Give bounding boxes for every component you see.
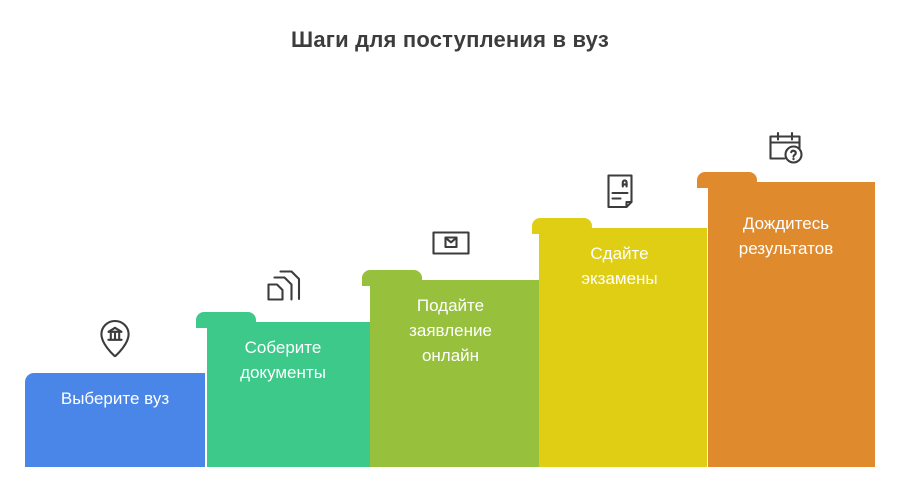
step-label-3-line3: онлайн [368, 343, 533, 368]
step-label-3-line2: заявление [368, 318, 533, 343]
step-label-1-line1: Выберите вуз [31, 386, 199, 411]
step-label-3-line1: Подайте [368, 293, 533, 318]
step-label-4-line1: Сдайте [538, 241, 701, 266]
step-label-2-line1: Соберите [202, 335, 364, 360]
step-label-4-line2: экзамены [538, 266, 701, 291]
step-label-4: Сдайте экзамены [532, 241, 707, 291]
map-pin-university-icon [87, 311, 143, 367]
steps-container: Выберите вуз Соберите документы [0, 0, 900, 492]
step-label-1: Выберите вуз [25, 386, 205, 411]
step-label-2: Соберите документы [196, 335, 370, 385]
screen-envelope-icon [423, 215, 479, 271]
step-label-2-line2: документы [202, 360, 364, 385]
step-label-3: Подайте заявление онлайн [362, 293, 539, 368]
step-label-5-line2: результатов [703, 236, 869, 261]
calendar-question-icon [758, 119, 814, 175]
documents-stack-icon [255, 259, 311, 315]
step-label-5: Дождитесь результатов [697, 211, 875, 261]
infographic-root: Шаги для поступления в вуз Выберите вуз [0, 0, 900, 492]
exam-paper-grade-a-icon [592, 165, 648, 221]
step-label-5-line1: Дождитесь [703, 211, 869, 236]
